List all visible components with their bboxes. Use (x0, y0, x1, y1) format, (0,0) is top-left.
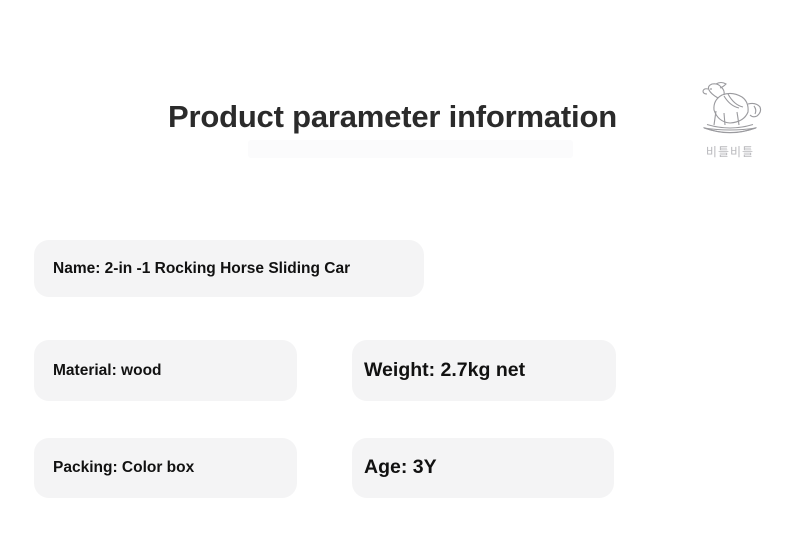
parameter-packing-text: Packing: Color box (53, 460, 194, 476)
parameter-item-name: Name: 2-in -1 Rocking Horse Sliding Car (34, 240, 424, 297)
parameter-item-age: Age: 3Y (352, 438, 614, 498)
parameter-list: Name: 2-in -1 Rocking Horse Sliding Car … (0, 0, 790, 545)
parameter-name-text: Name: 2-in -1 Rocking Horse Sliding Car (53, 261, 350, 277)
parameter-item-weight: Weight: 2.7kg net (352, 340, 616, 401)
parameter-weight-text: Weight: 2.7kg net (364, 361, 525, 381)
parameter-item-material: Material: wood (34, 340, 297, 401)
parameter-age-text: Age: 3Y (364, 458, 437, 478)
parameter-item-packing: Packing: Color box (34, 438, 297, 498)
parameter-material-text: Material: wood (53, 363, 162, 379)
product-parameter-page: Product parameter information (0, 0, 790, 545)
